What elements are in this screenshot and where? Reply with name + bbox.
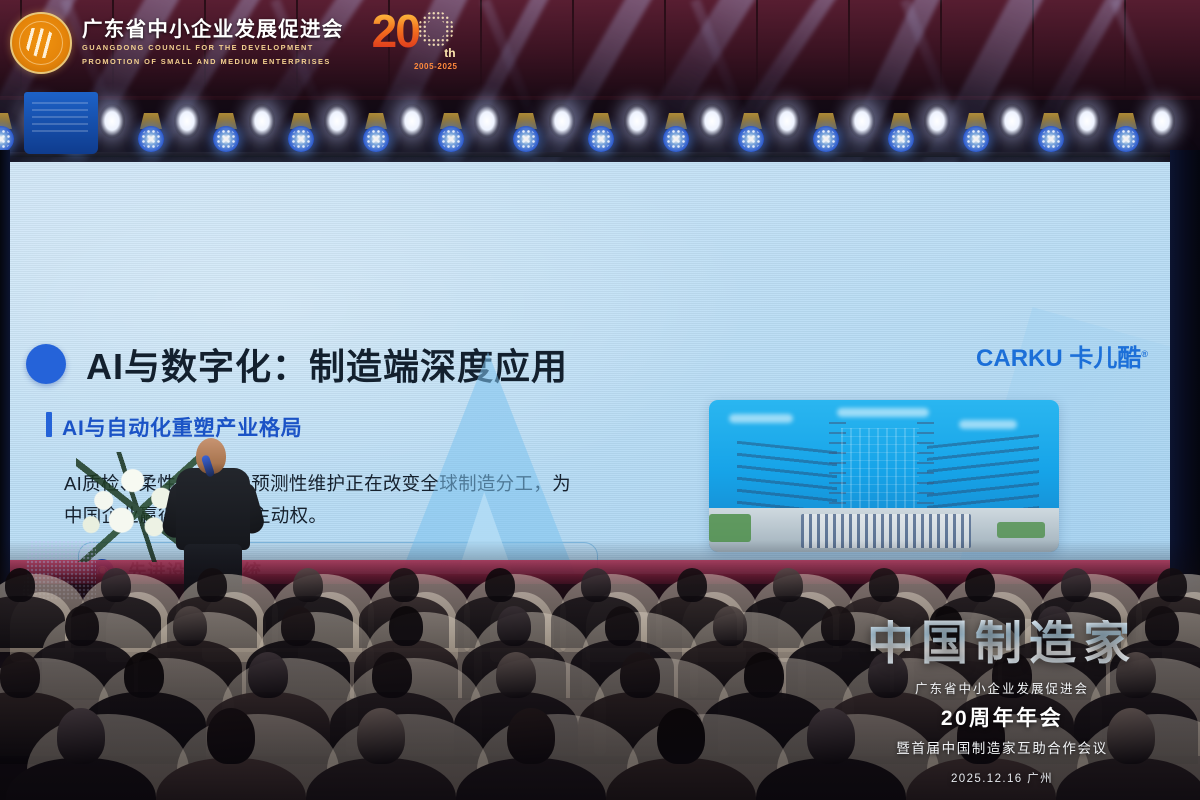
anniversary-ring-icon [418, 11, 454, 47]
slide-title: AI与数字化：制造端深度应用 [86, 338, 568, 390]
council-emblem-icon [10, 12, 72, 74]
trademark-icon: ® [1141, 349, 1148, 359]
org-name-en-line1: GUANGDONG COUNCIL FOR THE DEVELOPMENT [82, 43, 344, 54]
subtitle-accent-bar [46, 412, 52, 437]
title-bullet-icon [26, 344, 66, 384]
aerial-campus-photo [709, 400, 1059, 552]
watermark-line-1: 广东省中小企业发展促进会 [822, 678, 1182, 697]
event-watermark: 中国制造家 广东省中小企业发展促进会 20周年年会 暨首届中国制造家互助合作会议… [822, 620, 1182, 786]
watermark-line-3: 暨首届中国制造家互助合作会议 [822, 737, 1182, 757]
anniversary-years: 2005-2025 [414, 62, 458, 71]
anniversary-suffix: th [444, 46, 455, 60]
anniversary-number: 20 [372, 8, 419, 54]
conference-photo: AI与数字化：制造端深度应用 AI与自动化重塑产业格局 AI质检、柔性自动化与预… [0, 0, 1200, 800]
event-banner-overlay: 广东省中小企业发展促进会 GUANGDONG COUNCIL FOR THE D… [0, 0, 372, 86]
slide-subtitle: AI与自动化重塑产业格局 [62, 412, 303, 442]
watermark-line-2: 20周年年会 [822, 702, 1182, 732]
anniversary-logo: 20 th 2005-2025 [372, 6, 458, 80]
carku-logo-text: CARKU 卡儿酷 [976, 345, 1141, 372]
org-name-en-line2: PROMOTION OF SMALL AND MEDIUM ENTERPRISE… [82, 57, 344, 68]
watermark-main-title: 中国制造家 [822, 620, 1182, 669]
carku-logo: CARKU 卡儿酷® [976, 338, 1148, 373]
org-name-cn: 广东省中小企业发展促进会 [82, 19, 344, 41]
flower-vase [24, 92, 98, 154]
watermark-date-city: 2025.12.16 广州 [822, 770, 1182, 786]
